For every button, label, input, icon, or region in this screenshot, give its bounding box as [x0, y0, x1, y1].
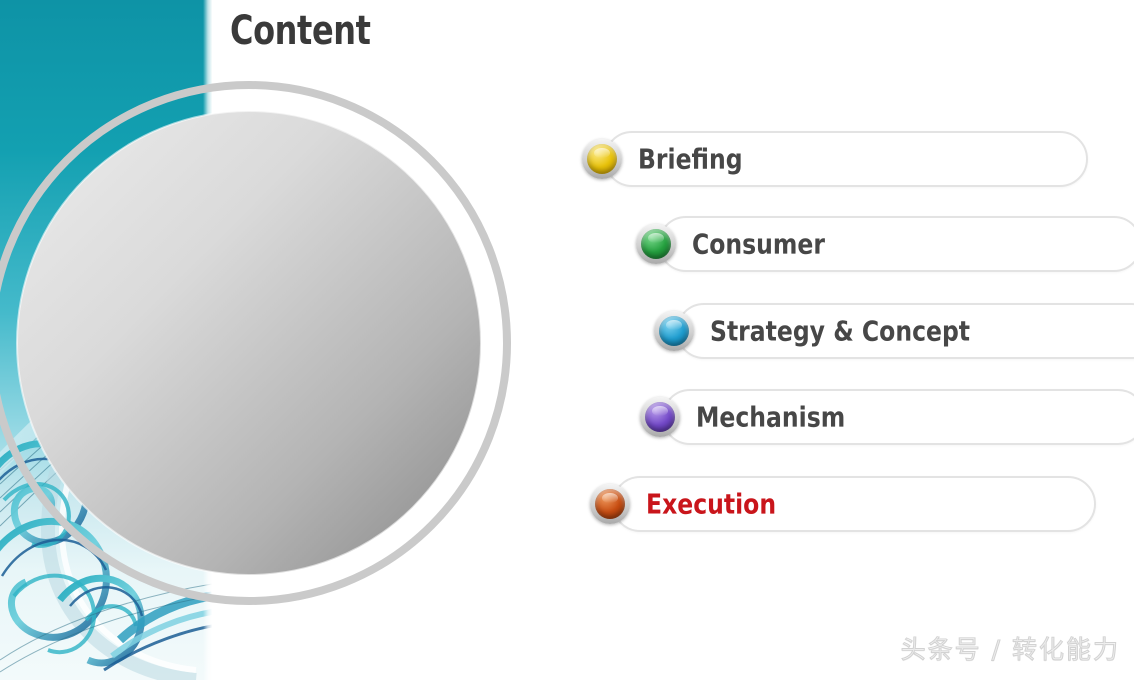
bullet-gloss: [594, 148, 611, 159]
bullet-fill: [645, 402, 675, 432]
bullet-fill: [641, 229, 671, 259]
agenda-bullet-mechanism: [640, 397, 680, 437]
agenda-bullet-execution: [590, 484, 630, 524]
bullet-fill: [659, 316, 689, 346]
agenda-label-strategy-concept: Strategy & Concept: [710, 315, 970, 348]
agenda-item-briefing[interactable]: Briefing: [604, 131, 1088, 187]
presentation-slide: shower clean Rexona shower clean Rexona …: [0, 0, 1134, 680]
slide-body: Content: [212, 0, 1134, 680]
bullet-gloss: [602, 493, 619, 504]
agenda-bullet-consumer: [636, 224, 676, 264]
bullet-gloss: [666, 320, 683, 331]
agenda-item-mechanism[interactable]: Mechanism: [662, 389, 1134, 445]
bullet-gloss: [648, 233, 665, 244]
agenda-bullet-strategy-concept: [654, 311, 694, 351]
agenda-label-execution: Execution: [646, 488, 776, 521]
decorative-circle-graphic: [0, 78, 514, 608]
agenda-item-strategy-concept[interactable]: Strategy & Concept: [676, 303, 1134, 359]
agenda-label-consumer: Consumer: [692, 228, 825, 261]
agenda-label-mechanism: Mechanism: [696, 401, 845, 434]
bullet-fill: [595, 489, 625, 519]
watermark: 头条号 / 转化能力: [901, 630, 1120, 666]
agenda-item-execution[interactable]: Execution: [612, 476, 1096, 532]
page-title: Content: [230, 8, 371, 54]
bullet-gloss: [652, 406, 669, 417]
bullet-fill: [587, 144, 617, 174]
agenda-item-consumer[interactable]: Consumer: [658, 216, 1134, 272]
agenda-label-briefing: Briefing: [638, 143, 743, 176]
agenda-bullet-briefing: [582, 139, 622, 179]
